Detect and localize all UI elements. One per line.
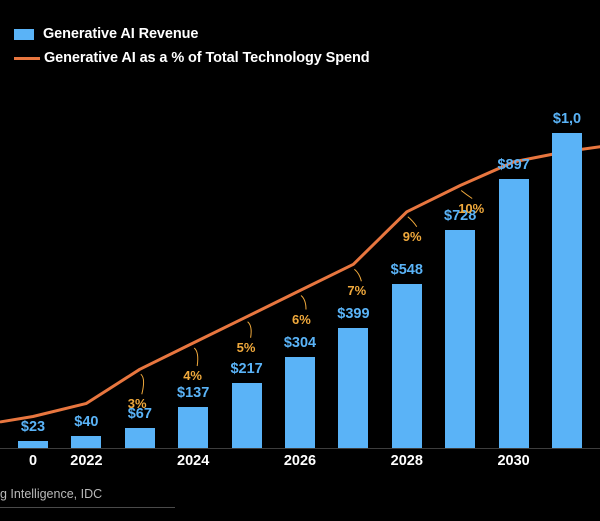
plot-area: $23$40$67$137$217$304$399$548$728$897$1,… [0, 78, 600, 448]
bar [552, 133, 582, 448]
x-axis-tick-label: 2028 [367, 453, 447, 469]
x-axis-tick-label: 2030 [474, 453, 554, 469]
percent-value-label: 5% [237, 340, 256, 355]
legend-item-line: Generative AI as a % of Total Technology… [14, 46, 574, 70]
x-axis-tick-label: 2022 [46, 453, 126, 469]
bar [499, 179, 529, 448]
line-swatch-icon [14, 57, 40, 60]
percent-value-label: 3% [128, 396, 147, 411]
bar [338, 328, 368, 448]
bar-value-label: $137 [153, 385, 233, 401]
percent-value-label: 7% [347, 283, 366, 298]
chart-legend: Generative AI Revenue Generative AI as a… [14, 22, 574, 70]
legend-label-line: Generative AI as a % of Total Technology… [44, 50, 369, 66]
bar-swatch-icon [14, 29, 34, 40]
bar [178, 407, 208, 448]
legend-label-bar: Generative AI Revenue [43, 26, 198, 42]
bar [445, 230, 475, 448]
legend-item-bar: Generative AI Revenue [14, 22, 574, 46]
bar [71, 436, 101, 448]
x-axis-line [0, 448, 600, 449]
bar [285, 357, 315, 448]
bar [125, 428, 155, 448]
bar-value-label: $304 [260, 335, 340, 351]
bar-value-label: $217 [207, 361, 287, 377]
bar [392, 284, 422, 448]
percent-value-label: 9% [403, 229, 422, 244]
x-axis-tick-label: 2024 [153, 453, 233, 469]
bar-value-label: $1,0 [527, 111, 600, 127]
bar-value-label: $897 [474, 157, 554, 173]
percent-value-label: 10% [458, 201, 484, 216]
bar-value-label: $399 [313, 306, 393, 322]
source-note: g Intelligence, IDC [0, 487, 102, 501]
footer-divider [0, 507, 175, 508]
percent-value-label: 4% [183, 368, 202, 383]
bar [18, 441, 48, 448]
chart-root: Generative AI Revenue Generative AI as a… [0, 0, 600, 521]
x-axis-tick-label: 2026 [260, 453, 340, 469]
percent-value-label: 6% [292, 312, 311, 327]
bar [232, 383, 262, 448]
bar-value-label: $548 [367, 262, 447, 278]
